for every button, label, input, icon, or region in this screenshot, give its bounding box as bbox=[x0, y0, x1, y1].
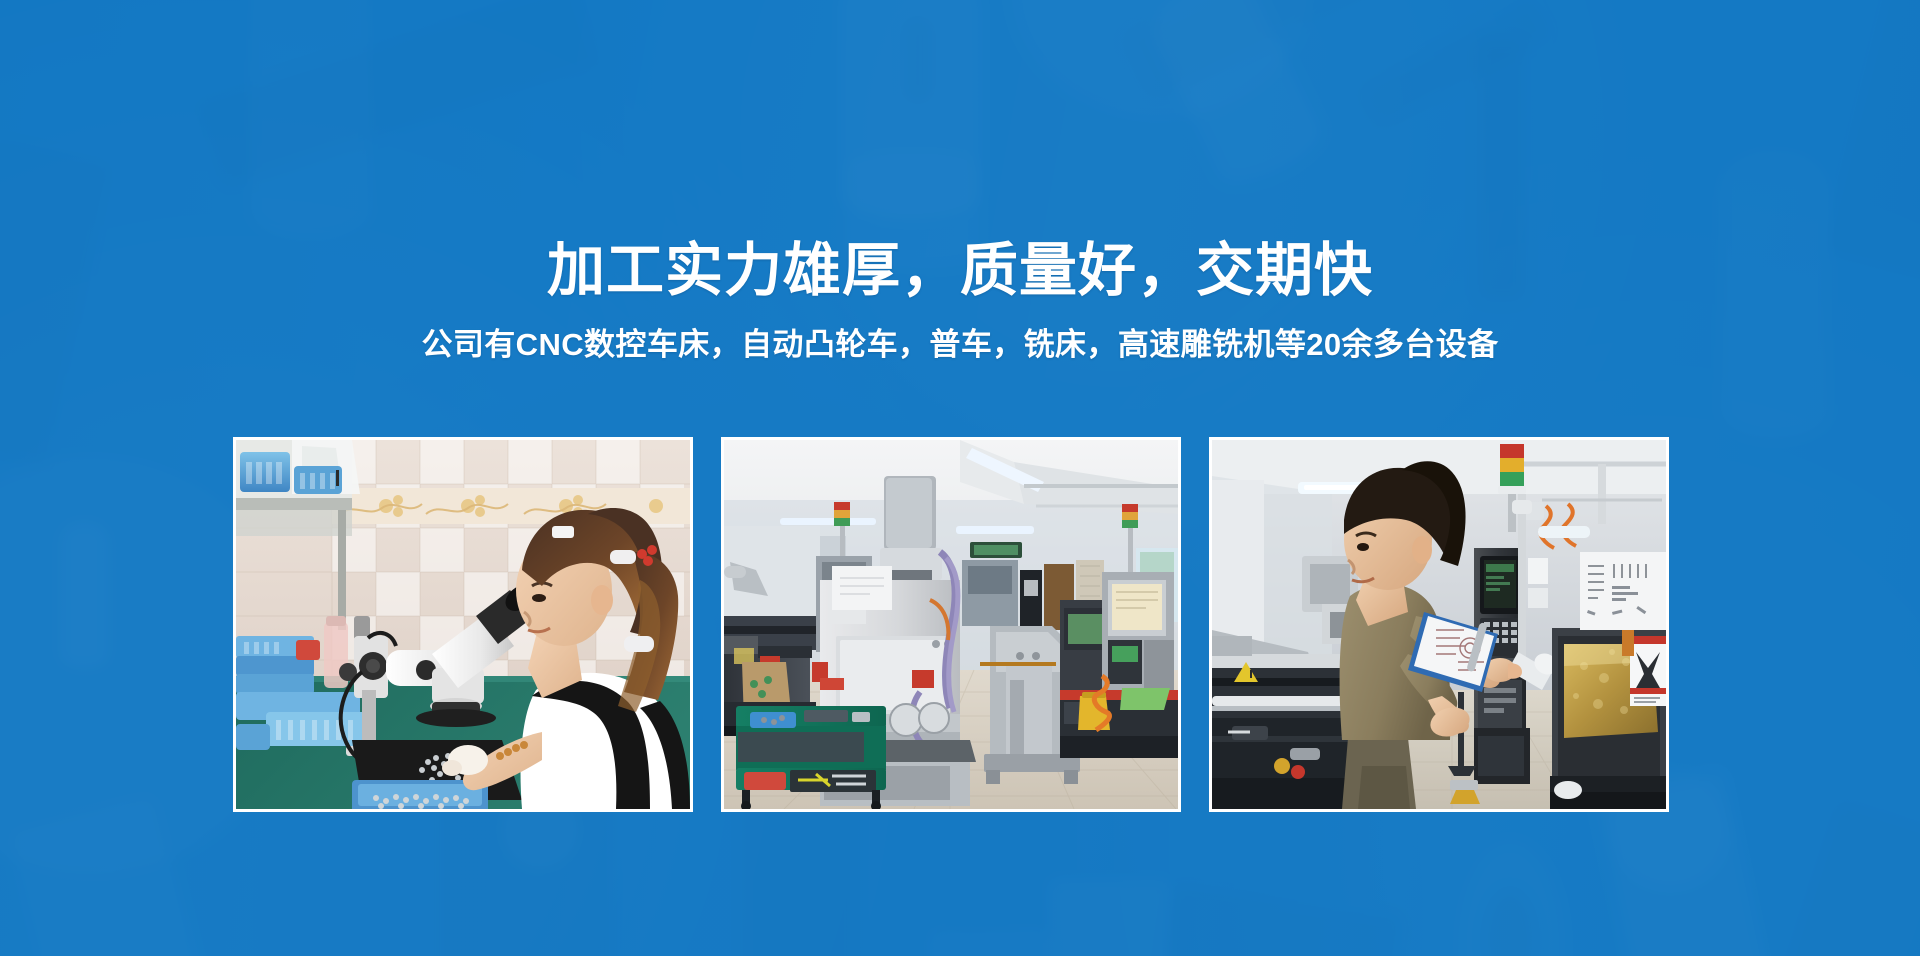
photo-inspection bbox=[236, 440, 690, 809]
photo-inspection-art bbox=[236, 440, 690, 809]
photo-caption-operator: 操作员在数控机床控制面板上设定加工程序 bbox=[1212, 809, 1213, 810]
ghost-part-bar-a bbox=[196, 0, 604, 190]
photo-gallery: 质检员用体视显微镜检验精密五金零件 bbox=[233, 437, 1669, 812]
banner-subheadline: 公司有CNC数控车床，自动凸轮车，普车，铣床，高速雕铣机等20余多台设备 bbox=[0, 324, 1920, 366]
ghost-part-cyl-a bbox=[250, 0, 370, 240]
ghost-part-bar-bottom-far-right bbox=[1770, 799, 1920, 956]
banner-root: 加工实力雄厚，质量好，交期快 公司有CNC数控车床，自动凸轮车，普车，铣床，高速… bbox=[0, 0, 1920, 956]
ghost-part-block-bottom bbox=[1050, 880, 1170, 956]
photo-card-inspection[interactable]: 质检员用体视显微镜检验精密五金零件 bbox=[233, 437, 693, 812]
photo-caption-inspection: 质检员用体视显微镜检验精密五金零件 bbox=[236, 809, 237, 810]
banner-copy: 加工实力雄厚，质量好，交期快 公司有CNC数控车床，自动凸轮车，普车，铣床，高速… bbox=[0, 236, 1920, 366]
ghost-part-bar-bottom-c bbox=[1158, 885, 1401, 956]
ghost-part-disc-top-right bbox=[1010, 0, 1310, 120]
ghost-part-bar-bottom-left bbox=[8, 795, 202, 956]
ghost-part-slot-center bbox=[905, 20, 931, 100]
photo-operator-art bbox=[1212, 440, 1666, 809]
ghost-part-bore-bottom-right bbox=[1485, 890, 1535, 956]
photo-workshop-art bbox=[724, 440, 1178, 809]
ghost-part-cyl-center bbox=[840, 0, 980, 220]
photo-card-workshop[interactable]: CNC数控车床加工车间 bbox=[721, 437, 1181, 812]
ghost-part-bar-top-right bbox=[1121, 0, 1448, 99]
ghost-part-bar-top-right-2 bbox=[1356, 0, 1554, 130]
ghost-part-cyl-top-right bbox=[1142, 0, 1329, 194]
photo-card-operator[interactable]: 操作员在数控机床控制面板上设定加工程序 bbox=[1209, 437, 1669, 812]
ghost-part-disc-bottom-right bbox=[1455, 840, 1565, 956]
photo-caption-workshop: CNC数控车床加工车间 bbox=[724, 809, 725, 810]
photo-workshop bbox=[724, 440, 1178, 809]
banner-headline: 加工实力雄厚，质量好，交期快 bbox=[0, 236, 1920, 306]
ghost-part-thread-bottom bbox=[930, 930, 1050, 956]
ghost-part-stud-left bbox=[58, 520, 110, 670]
photo-operator bbox=[1212, 440, 1666, 809]
